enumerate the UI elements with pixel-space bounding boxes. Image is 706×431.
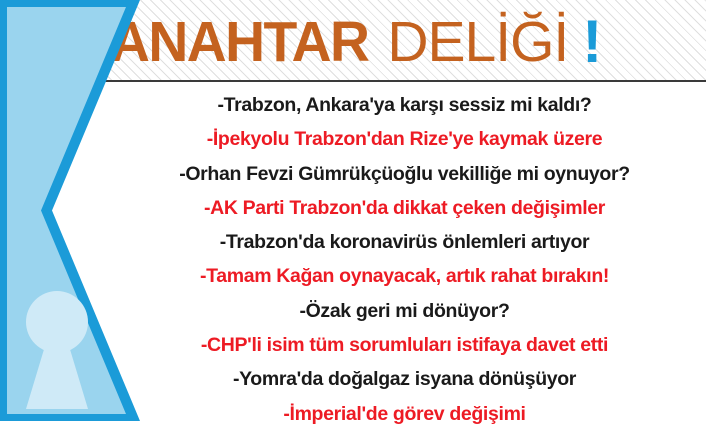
keyhole-body-shape <box>26 335 88 409</box>
headline-item[interactable]: -Trabzon, Ankara'ya karşı sessiz mi kald… <box>103 88 706 122</box>
headline-item[interactable]: -Yomra'da doğalgaz isyana dönüşüyor <box>103 362 706 396</box>
keyhole-icon <box>26 291 88 409</box>
header-hatch-background <box>103 0 706 82</box>
headline-item[interactable]: -Tamam Kağan oynayacak, artık rahat bıra… <box>103 259 706 293</box>
headline-item[interactable]: -İmperial'de görev değişimi <box>103 397 706 431</box>
anahtar-deligi-banner: ANAHTAR DELİĞİ ! -Trabzon, Ankara'ya kar… <box>0 0 706 431</box>
headline-list: -Trabzon, Ankara'ya karşı sessiz mi kald… <box>103 86 706 431</box>
headline-item[interactable]: -CHP'li isim tüm sorumluları istifaya da… <box>103 328 706 362</box>
headline-item[interactable]: -Orhan Fevzi Gümrükçüoğlu vekilliğe mi o… <box>103 157 706 191</box>
header-divider-rule <box>103 80 706 82</box>
headline-item[interactable]: -İpekyolu Trabzon'dan Rize'ye kaymak üze… <box>103 122 706 156</box>
headline-item[interactable]: -Özak geri mi dönüyor? <box>103 294 706 328</box>
headline-item[interactable]: -AK Parti Trabzon'da dikkat çeken değişi… <box>103 191 706 225</box>
headline-item[interactable]: -Trabzon'da koronavirüs önlemleri artıyo… <box>103 225 706 259</box>
